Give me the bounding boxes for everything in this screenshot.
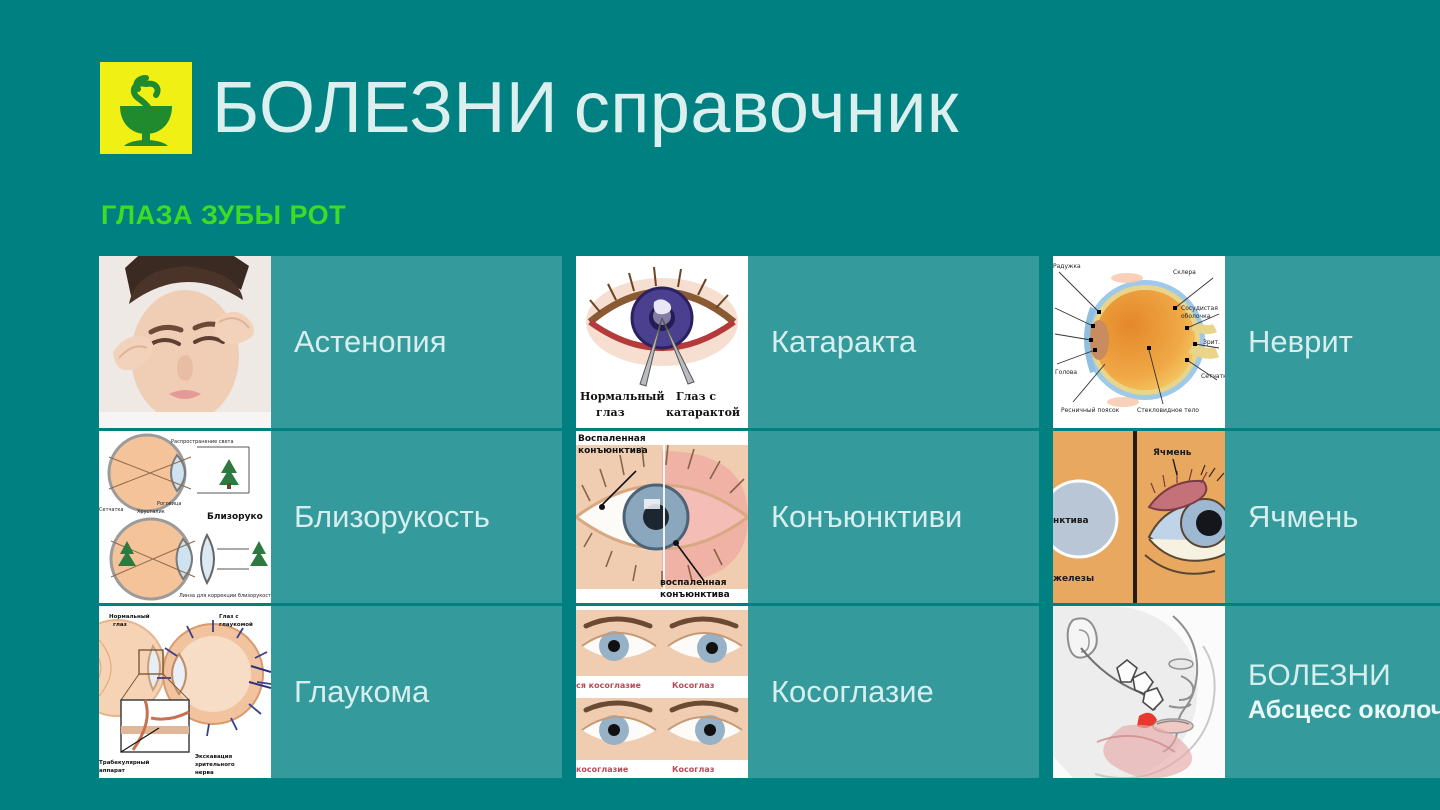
disease-name: Косоглазие [771,674,1031,710]
svg-text:аппарат: аппарат [99,768,126,774]
app-title-secondary: справочник [574,72,959,144]
svg-text:Глаз с: Глаз с [219,614,239,620]
pharmacy-bowl-of-hygieia-icon [100,62,192,154]
svg-text:Глаз с: Глаз с [676,390,716,403]
svg-text:глаукомой: глаукомой [219,621,253,628]
svg-text:косоглазие: косоглазие [576,765,629,774]
disease-tile-konyunktivit[interactable]: Воспаленная конъюнктива воспаленная конъ… [576,431,1039,603]
disease-tile-label: Косоглазие [748,606,1039,778]
jaw-abscess-illustration [1053,606,1225,778]
svg-text:оболочка: оболочка [1181,313,1211,320]
disease-tile-yachmen[interactable]: нктива железы Ячмень [1053,431,1440,603]
disease-tile-label: Катаракта [748,256,1039,428]
svg-text:Хрусталик: Хрусталик [137,509,165,515]
svg-text:Сетчатка: Сетчатка [1201,373,1225,380]
disease-name: Катаракта [771,324,1031,360]
app-header: БОЛЕЗНИ справочник [100,62,959,154]
svg-text:конъюнктива: конъюнктива [578,446,648,456]
svg-text:Косоглаз: Косоглаз [672,681,715,690]
disease-tile-nevrit[interactable]: Радужка Склера Сосудистаяоболочка Зрит. … [1053,256,1440,428]
cataract-eye-diagram: Нормальный глаз Глаз с катарактой [576,256,748,428]
disease-tile-abstsess[interactable]: БОЛЕЗНИ Абсцесс околочелюст [1053,606,1440,778]
svg-text:конъюнктива: конъюнктива [660,590,730,600]
svg-text:зрительного: зрительного [195,762,235,768]
slide-root: БОЛЕЗНИ справочник ГЛАЗА ЗУБЫ РОТ [0,0,1440,810]
disease-name: Конъюнктиви [771,499,1031,535]
svg-text:Косоглаз: Косоглаз [672,765,715,774]
stye-eyelid-illustration: нктива железы Ячмень [1053,431,1225,603]
glaucoma-eye-diagram: Нормальныйглаз Глаз сглаукомой Трабекуля… [99,606,271,778]
svg-text:ся косоглазие: ся косоглазие [576,681,642,690]
svg-text:Близоруко: Близоруко [207,512,263,522]
svg-text:нерва: нерва [195,770,214,776]
eye-anatomy-cross-section: Радужка Склера Сосудистаяоболочка Зрит. … [1053,256,1225,428]
svg-text:Радужка: Радужка [1053,263,1081,270]
disease-tile-blizorukost[interactable]: Распространение света Роговица Хрусталик… [99,431,562,603]
app-title: БОЛЕЗНИ справочник [212,72,959,144]
disease-tile-kosoglazie[interactable]: ся косоглазие Косоглаз косоглазие Косогл… [576,606,1039,778]
disease-tile-label: Ячмень [1225,431,1440,603]
svg-text:Распространение света: Распространение света [171,439,234,445]
disease-tile-grid: Астенопия [99,256,1440,778]
svg-text:Линза для коррекции близорукос: Линза для коррекции близорукости [179,593,271,599]
strabismus-eyes-photo: ся косоглазие Косоглаз косоглазие Косогл… [576,606,748,778]
svg-text:Сетчатка: Сетчатка [99,507,124,513]
disease-tile-label: Астенопия [271,256,562,428]
svg-text:глаз: глаз [596,406,625,419]
disease-name: Астенопия [294,324,554,360]
svg-text:Ячмень: Ячмень [1153,448,1192,458]
app-title-primary: БОЛЕЗНИ [212,72,558,144]
svg-text:катарактой: катарактой [666,406,740,419]
conjunctivitis-eye-photo: Воспаленная конъюнктива воспаленная конъ… [576,431,748,603]
svg-text:Зрит.: Зрит. [1203,339,1220,346]
disease-tile-katarakta[interactable]: Нормальный глаз Глаз с катарактой Катара… [576,256,1039,428]
disease-name: Абсцесс околочелюст [1248,696,1440,726]
svg-text:Воспаленная: Воспаленная [578,434,646,444]
svg-text:Нормальный: Нормальный [580,390,665,403]
svg-text:глаз: глаз [113,622,127,628]
svg-text:Ресничный поясок: Ресничный поясок [1061,407,1120,414]
svg-text:нктива: нктива [1053,516,1089,526]
svg-text:железы: железы [1053,574,1094,584]
section-title: ГЛАЗА ЗУБЫ РОТ [101,200,346,231]
disease-tile-label: Близорукость [271,431,562,603]
disease-tile-label: Неврит [1225,256,1440,428]
svg-text:воспаленная: воспаленная [660,578,727,588]
svg-text:Сосудистая: Сосудистая [1181,305,1218,312]
disease-name: Глаукома [294,674,554,710]
disease-tile-label: Глаукома [271,606,562,778]
disease-name: Неврит [1248,324,1440,360]
disease-name: Близорукость [294,499,554,535]
myopia-diagram: Распространение света Роговица Хрусталик… [99,431,271,603]
disease-tile-glaukoma[interactable]: Нормальныйглаз Глаз сглаукомой Трабекуля… [99,606,562,778]
svg-text:Роговица: Роговица [157,501,181,507]
disease-tile-label: БОЛЕЗНИ Абсцесс околочелюст [1225,606,1440,778]
svg-text:Экскавация: Экскавация [195,754,233,760]
svg-text:Нормальный: Нормальный [109,613,150,620]
svg-text:Голова: Голова [1055,369,1077,376]
svg-text:Стекловидное тело: Стекловидное тело [1137,407,1199,414]
svg-text:Склера: Склера [1173,269,1196,276]
woman-rubbing-eyes-photo [99,256,271,428]
svg-text:Трабекулярный: Трабекулярный [99,759,150,766]
disease-tile-astenopiya[interactable]: Астенопия [99,256,562,428]
disease-tile-label: Конъюнктиви [748,431,1039,603]
disease-name: Ячмень [1248,499,1440,535]
disease-category: БОЛЕЗНИ [1248,659,1440,694]
